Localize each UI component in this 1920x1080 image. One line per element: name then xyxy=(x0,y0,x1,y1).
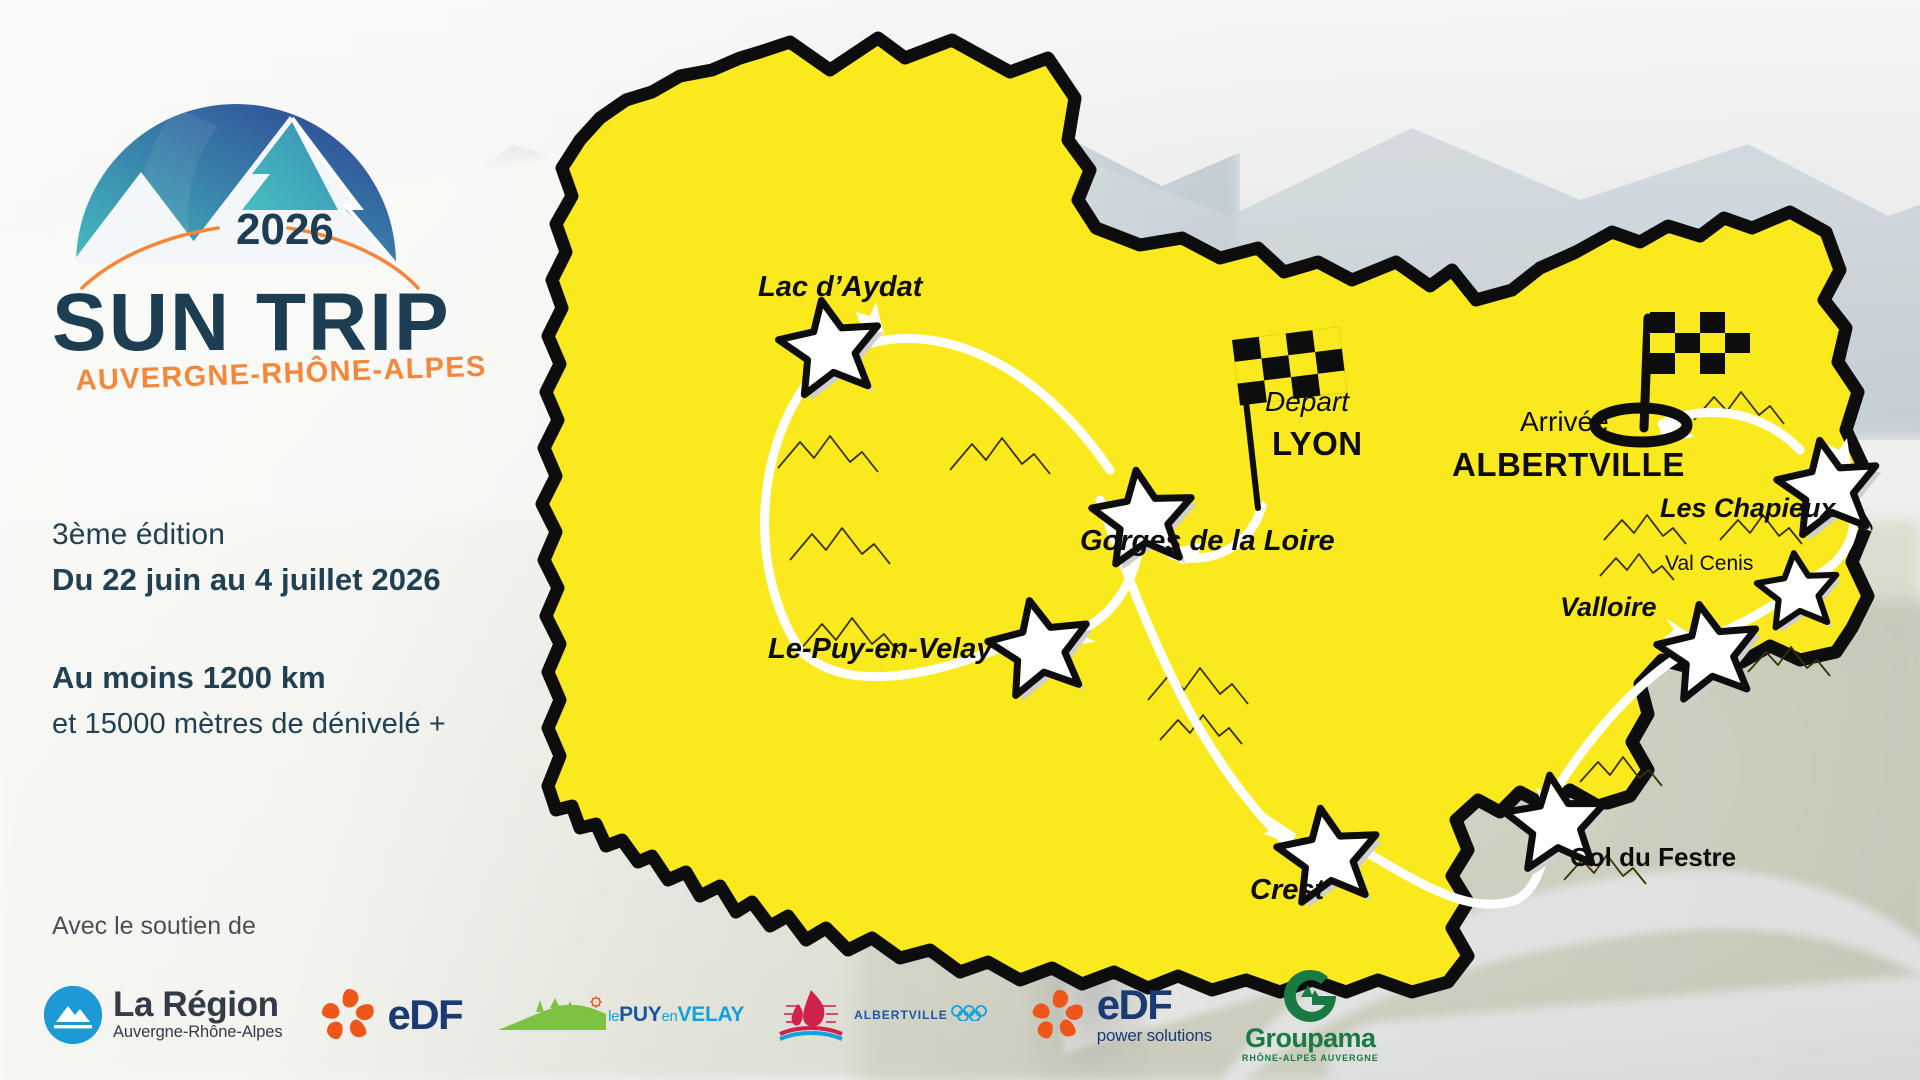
la-region-mountain-icon xyxy=(44,986,102,1044)
groupama-sub: RHÔNE-ALPES AUVERGNE xyxy=(1242,1053,1379,1063)
olympic-rings-icon xyxy=(948,1005,1004,1025)
map-label-valloire: Valloire xyxy=(1560,592,1657,623)
map-label-crest: Crest xyxy=(1250,874,1324,907)
sponsor-le-puy-en-velay[interactable]: lePUY enVELAY xyxy=(496,965,744,1065)
map-label-le-puy-en-velay: Le-Puy-en-Velay xyxy=(768,633,993,666)
map-label-depart-prefix: Départ xyxy=(1265,386,1349,418)
le-puy-en: en xyxy=(661,1008,677,1025)
sponsor-edf[interactable]: eDF xyxy=(317,965,463,1065)
edf-flower-icon xyxy=(317,983,381,1047)
groupama-g-icon xyxy=(1281,967,1339,1025)
dates-text: Du 22 juin au 4 juillet 2026 xyxy=(52,562,612,598)
map-label-start-city: LYON xyxy=(1272,425,1363,463)
sponsor-logos: La Région Auvergne-Rhône-Alpes eDF xyxy=(44,962,1379,1068)
albertville-name: ALBERTVILLE xyxy=(854,1008,948,1022)
la-region-name: La Région xyxy=(113,988,283,1022)
le-puy-puy: PUY xyxy=(619,1003,661,1026)
groupama-name: Groupama xyxy=(1245,1025,1375,1052)
logo-svg: 2026 SUN TRIP AUVERGNE-RHÔNE-ALPES xyxy=(46,22,506,422)
map-label-finish-city: ALBERTVILLE xyxy=(1452,446,1685,484)
edf-power-wordmark: eDF xyxy=(1097,984,1212,1026)
map-label-gorges-de-la-loire: Gorges de la Loire xyxy=(1080,525,1335,558)
elevation-text: et 15000 mètres de dénivelé + xyxy=(52,708,612,741)
map-label-les-chapieux: Les Chapieux xyxy=(1660,493,1836,524)
map-label-val-cenis: Val Cenis xyxy=(1665,552,1753,576)
sponsor-edf-power-solutions[interactable]: eDF power solutions xyxy=(1028,965,1212,1065)
edf-power-sub: power solutions xyxy=(1097,1026,1212,1046)
edf-power-solutions-flower-icon xyxy=(1028,984,1090,1046)
map-label-lac-daydat: Lac d’Aydat xyxy=(758,271,922,304)
support-label: Avec le soutien de xyxy=(52,912,612,941)
le-puy-velay: VELAY xyxy=(678,1003,745,1026)
left-panel: 2026 SUN TRIP AUVERGNE-RHÔNE-ALPES 3ème … xyxy=(0,0,620,1080)
event-info: 3ème édition Du 22 juin au 4 juillet 202… xyxy=(52,518,612,741)
support-section: Avec le soutien de xyxy=(52,912,612,941)
edition-text: 3ème édition xyxy=(52,518,612,552)
le-puy-line1: lePUY xyxy=(608,1005,661,1025)
le-puy-hill-icon xyxy=(496,996,608,1034)
map-label-arrivee-prefix: Arrivée xyxy=(1520,406,1609,438)
le-puy-le: le xyxy=(608,1008,619,1025)
le-puy-line2: enVELAY xyxy=(661,1005,744,1025)
albertville-flame-icon xyxy=(768,986,854,1044)
sun-trip-logo: 2026 SUN TRIP AUVERGNE-RHÔNE-ALPES xyxy=(46,22,506,422)
la-region-sub: Auvergne-Rhône-Alpes xyxy=(113,1022,283,1043)
logo-year: 2026 xyxy=(236,205,334,254)
edf-wordmark: eDF xyxy=(388,994,463,1036)
map-label-col-du-festre: Col du Festre xyxy=(1570,842,1736,873)
sponsor-la-region[interactable]: La Région Auvergne-Rhône-Alpes xyxy=(44,965,283,1065)
sponsor-groupama[interactable]: Groupama RHÔNE-ALPES AUVERGNE xyxy=(1242,965,1379,1065)
distance-text: Au moins 1200 km xyxy=(52,660,612,696)
sponsor-albertville[interactable]: ALBERTVILLE xyxy=(768,965,1004,1065)
